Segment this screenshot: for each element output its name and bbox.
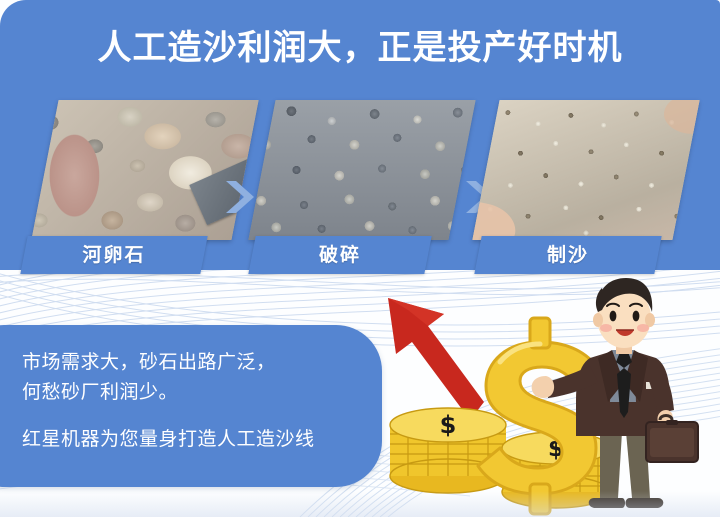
coin-stack-icon: $ (390, 408, 506, 493)
message-line-3: 红星机器为您量身打造人工造沙线 (22, 424, 358, 454)
hand-shape (472, 198, 520, 240)
crushed-gravel-image (248, 100, 475, 240)
river-pebbles-image (31, 100, 258, 240)
business-illustration: $ $ (350, 270, 720, 517)
photo-inner (248, 100, 475, 240)
poster-canvas: 人工造沙利润大，正是投产好时机 (0, 0, 720, 517)
process-photo-crushed-gravel (248, 100, 475, 240)
bottom-gradient (0, 491, 720, 517)
photo-inner (472, 100, 699, 240)
process-label-text: 制沙 (478, 236, 658, 274)
briefcase-icon (646, 416, 698, 463)
coin-dollar-glyph: $ (440, 411, 457, 439)
process-label-river-pebbles: 河卵石 (20, 236, 207, 274)
process-label-text: 破碎 (252, 236, 428, 274)
photo-inner (31, 100, 258, 240)
manufactured-sand-image (472, 100, 699, 240)
message-line-1: 市场需求大，砂石出路广泛， (22, 347, 358, 377)
message-line-2: 何愁砂厂利润少。 (22, 377, 358, 407)
process-photo-manufactured-sand (472, 100, 699, 240)
process-photo-river-pebbles (31, 100, 258, 240)
message-text-block: 市场需求大，砂石出路广泛， 何愁砂厂利润少。 红星机器为您量身打造人工造沙线 (22, 347, 358, 454)
process-label-crushing: 破碎 (248, 236, 431, 274)
message-callout-box: 市场需求大，砂石出路广泛， 何愁砂厂利润少。 红星机器为您量身打造人工造沙线 (0, 325, 382, 487)
page-title: 人工造沙利润大，正是投产好时机 (0, 0, 720, 96)
chevron-right-icon (222, 178, 256, 216)
process-label-sand-making: 制沙 (474, 236, 661, 274)
header-banner: 人工造沙利润大，正是投产好时机 (0, 0, 720, 96)
process-label-text: 河卵石 (24, 236, 204, 274)
